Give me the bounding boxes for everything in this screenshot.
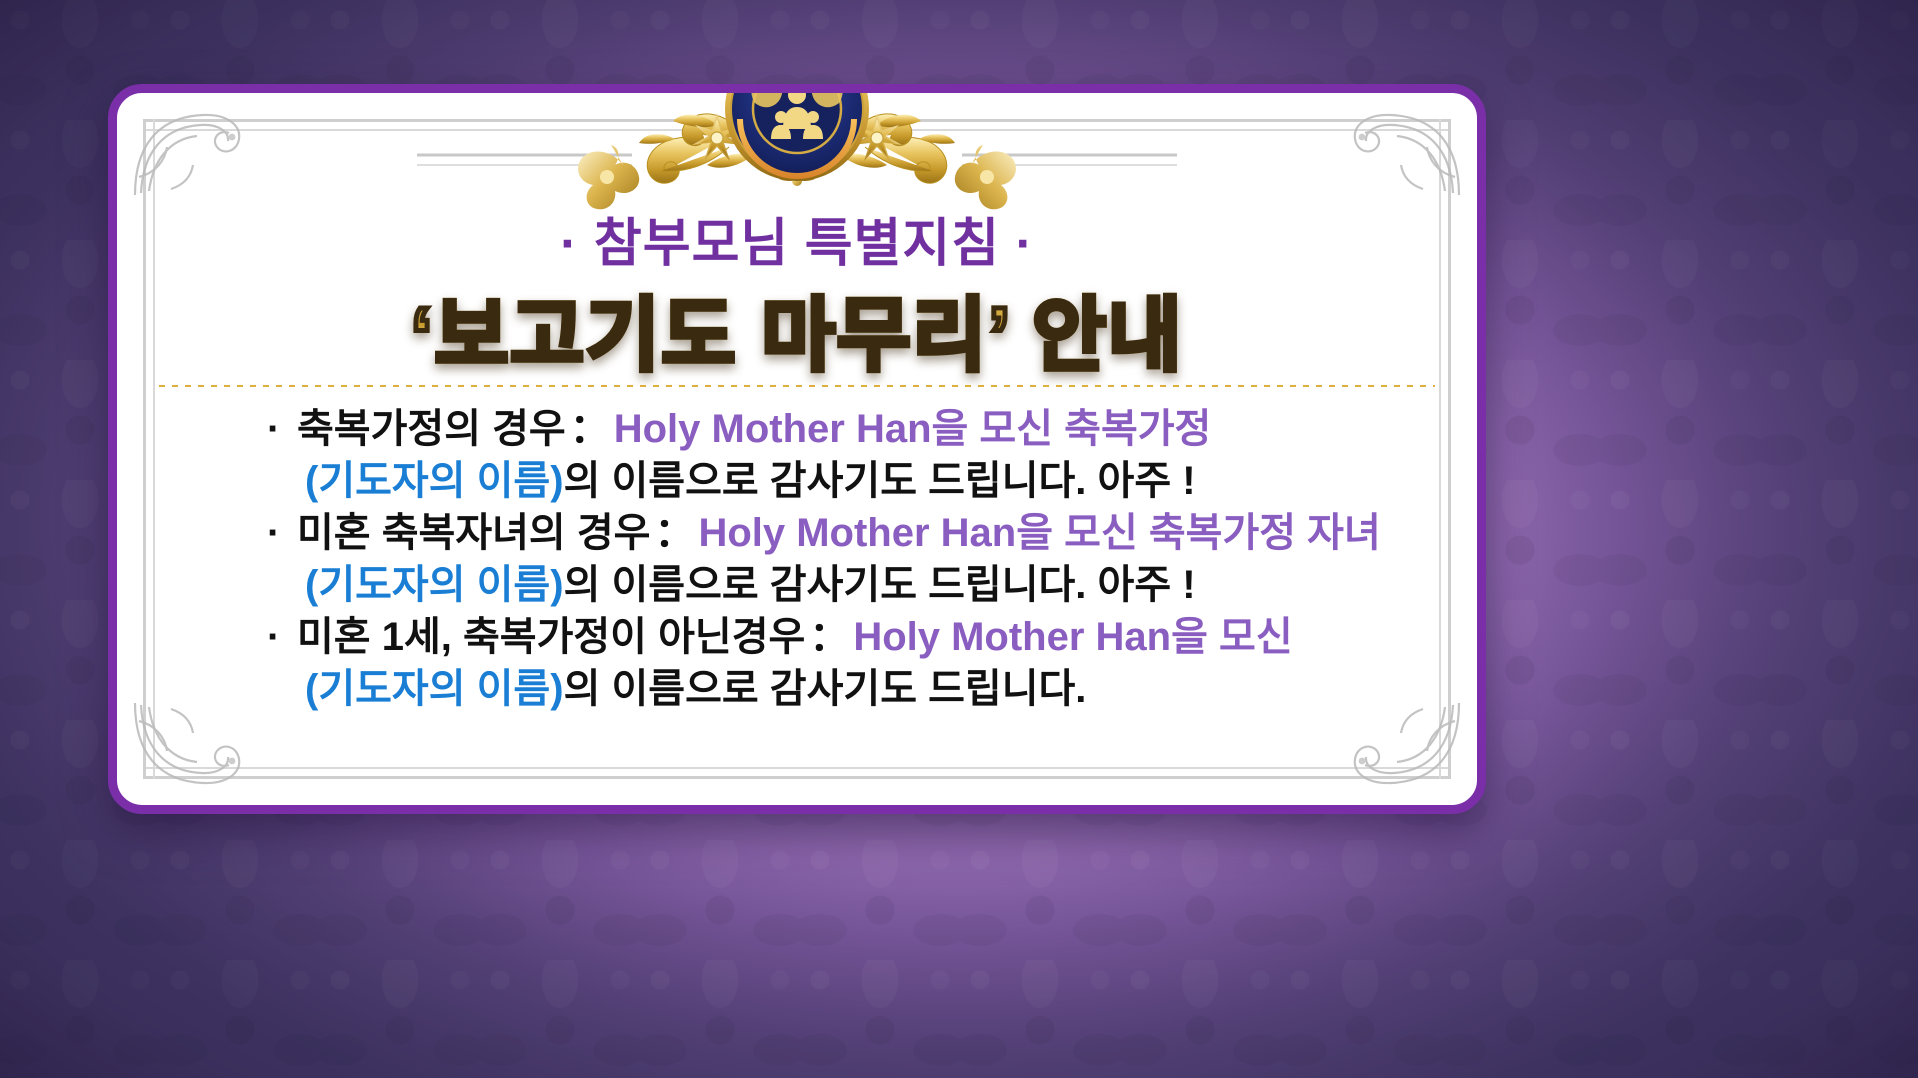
content-list: ·축복가정의 경우：Holy Mother Han을 모신 축복가정 (기도자의… (267, 409, 1417, 721)
prayer-name-field: (기도자의 이름) (305, 459, 564, 503)
bullet-icon: · (267, 513, 297, 553)
prayer-name-field: (기도자의 이름) (305, 667, 564, 711)
announcement-card: CHEON IL GUK 天一國 · 참부모님 특별지침 · ‘보고기도 마무리… (108, 84, 1486, 814)
item-label: 미혼 축복자녀의 경우 (297, 511, 650, 555)
page-subtitle: · 참부모님 특별지침 · (117, 201, 1477, 276)
item-label: 축복가정의 경우 (297, 407, 566, 451)
item-rest: 의 이름으로 감사기도 드립니다. 아주 ! (564, 563, 1196, 607)
bullet-icon: · (267, 617, 297, 657)
slide-root: CHEON IL GUK 天一國 · 참부모님 특별지침 · ‘보고기도 마무리… (0, 0, 1918, 1078)
emblem-center-text: 天一國 (777, 84, 816, 92)
divider (159, 385, 1435, 387)
item-highlight: Holy Mother Han을 모신 축복가정 (614, 407, 1212, 451)
cheon-il-guk-emblem: CHEON IL GUK 天一國 (721, 84, 873, 185)
list-item: ·미혼 축복자녀의 경우：Holy Mother Han을 모신 축복가정 자녀… (267, 513, 1417, 605)
item-highlight: Holy Mother Han을 모신 축복가정 자녀 (698, 511, 1380, 555)
item-rest: 의 이름으로 감사기도 드립니다. (564, 667, 1087, 711)
item-highlight: Holy Mother Han을 모신 (853, 615, 1292, 659)
item-label: 미혼 1세, 축복가정이 아닌경우 (297, 615, 805, 659)
item-colon: ： (805, 615, 853, 659)
page-title: ‘보고기도 마무리’ 안내 (117, 271, 1477, 387)
frame-line-bottom (143, 776, 1451, 779)
item-colon: ： (650, 511, 698, 555)
list-item: ·축복가정의 경우：Holy Mother Han을 모신 축복가정 (기도자의… (267, 409, 1417, 501)
item-rest: 의 이름으로 감사기도 드립니다. 아주 ! (564, 459, 1196, 503)
frame-line-bottom-2 (143, 767, 1451, 769)
list-item: ·미혼 1세, 축복가정이 아닌경우：Holy Mother Han을 모신 (… (267, 617, 1417, 709)
item-colon: ： (566, 407, 614, 451)
prayer-name-field: (기도자의 이름) (305, 563, 564, 607)
bullet-icon: · (267, 409, 297, 449)
